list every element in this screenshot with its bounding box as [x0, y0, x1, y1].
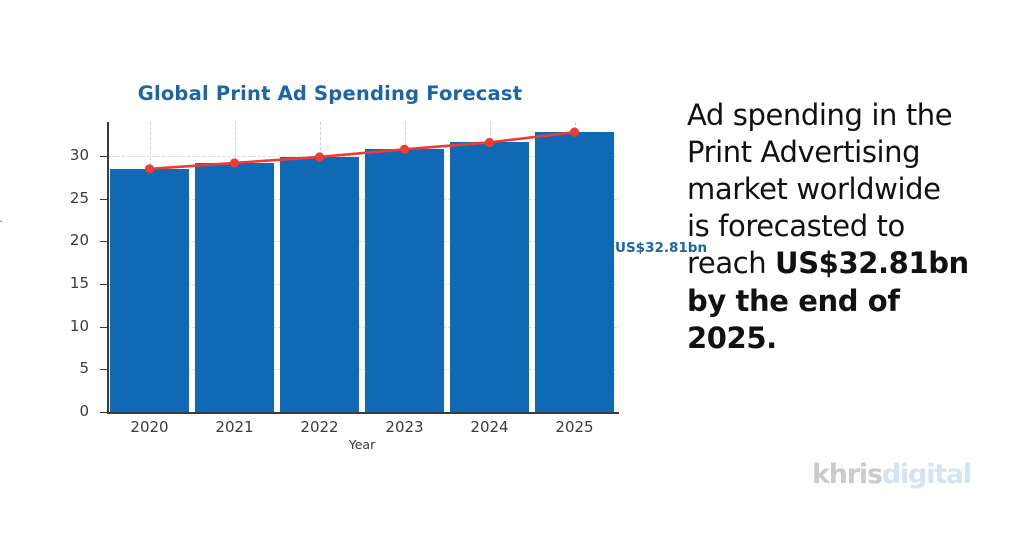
y-axis-title: US$ Billion: [0, 173, 4, 243]
plot-area: US$32.81bn: [107, 122, 617, 412]
y-tick-mark: [100, 284, 107, 285]
data-point-2023: [400, 145, 409, 154]
trend-line-path: [150, 132, 575, 169]
headline-copy: Ad spending in the Print Advertising mar…: [687, 97, 987, 357]
y-tick-mark: [100, 199, 107, 200]
y-axis-line: [107, 122, 109, 412]
brand-logo: khrisdigital: [812, 459, 971, 490]
y-tick-label-0: 0: [55, 402, 89, 420]
data-point-2021: [230, 158, 239, 167]
trend-line-series: [107, 122, 617, 412]
copy-line-3: market worldwide: [687, 172, 941, 206]
y-tick-mark: [100, 156, 107, 157]
y-tick-mark: [100, 412, 107, 413]
y-tick-mark: [100, 369, 107, 370]
chart-panel: Global Print Ad Spending Forecast US$32.…: [0, 0, 660, 480]
y-tick-label-5: 5: [55, 359, 89, 377]
y-tick-label-30: 30: [55, 146, 89, 164]
data-point-2022: [315, 152, 324, 161]
copy-line-6: by the end of: [687, 284, 900, 318]
chart-title: Global Print Ad Spending Forecast: [0, 82, 660, 105]
data-point-2020: [145, 164, 154, 173]
data-point-2024: [485, 138, 494, 147]
copy-line-5-plain: reach: [687, 246, 775, 280]
copy-line-2: Print Advertising: [687, 135, 920, 169]
x-axis-line: [107, 412, 619, 414]
y-tick-mark: [100, 327, 107, 328]
copy-line-7: 2025.: [687, 321, 777, 355]
y-tick-label-15: 15: [55, 274, 89, 292]
logo-text-khris: khris: [812, 459, 882, 490]
copy-line-1: Ad spending in the: [687, 98, 952, 132]
y-tick-label-10: 10: [55, 317, 89, 335]
slide-canvas: Global Print Ad Spending Forecast US$32.…: [0, 0, 1025, 537]
logo-text-digital: digital: [882, 459, 971, 490]
copy-highlight-value: US$32.81bn: [775, 246, 969, 280]
y-tick-mark: [100, 241, 107, 242]
x-axis-title: Year: [107, 437, 617, 452]
x-tick-label-2025: 2025: [525, 418, 625, 436]
copy-line-4: is forecasted to: [687, 209, 905, 243]
y-tick-label-20: 20: [55, 231, 89, 249]
data-point-2025: [570, 128, 579, 137]
y-tick-label-25: 25: [55, 189, 89, 207]
